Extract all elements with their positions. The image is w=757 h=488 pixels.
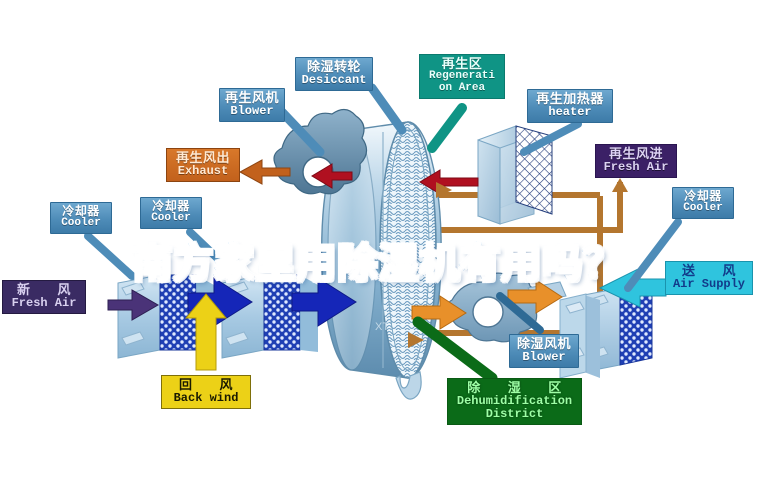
- label-regeneration-heater: 再生加热器 heater: [527, 89, 613, 123]
- label-regeneration-blower-en: Blower: [225, 105, 279, 118]
- label-desiccant-wheel-en: Desiccant: [301, 74, 367, 87]
- label-regeneration-heater-cn: 再生加热器: [533, 92, 607, 106]
- label-back-wind-cn: 回 风: [167, 378, 245, 392]
- label-dehumidification-blower-en: Blower: [515, 351, 573, 364]
- label-regeneration-area-cn: 再生区: [425, 57, 499, 71]
- label-regeneration-fresh-air: 再生风进 Fresh Air: [595, 144, 677, 178]
- page-title-text: 南方家里用除湿机有用吗？: [133, 241, 625, 287]
- label-cooler-left-2: 冷却器 Cooler: [140, 197, 202, 229]
- label-regeneration-area: 再生区 Regenerati on Area: [419, 54, 505, 99]
- label-dehumidification-district-en2: District: [453, 408, 576, 421]
- label-cooler-right-en: Cooler: [678, 203, 728, 215]
- label-regeneration-fresh-air-cn: 再生风进: [601, 147, 671, 161]
- label-cooler-left-1: 冷却器 Cooler: [50, 202, 112, 234]
- label-cooler-left-2-cn: 冷却器: [146, 200, 196, 213]
- label-regeneration-heater-en: heater: [533, 106, 607, 119]
- label-desiccant-wheel-cn: 除湿转轮: [301, 60, 367, 74]
- label-back-wind-en: Back wind: [167, 392, 245, 405]
- label-cooler-right-cn: 冷却器: [678, 190, 728, 203]
- label-dehumidification-district: 除 湿 区 Dehumidification District: [447, 378, 582, 425]
- label-cooler-left-2-en: Cooler: [146, 213, 196, 225]
- label-exhaust-cn: 再生风出: [172, 151, 234, 165]
- label-dehumidification-district-cn: 除 湿 区: [453, 381, 576, 395]
- label-dehumidification-blower: 除湿风机 Blower: [509, 334, 579, 368]
- page-title: 南方家里用除湿机有用吗？: [0, 231, 757, 289]
- label-dehumidification-blower-cn: 除湿风机: [515, 337, 573, 351]
- label-back-wind: 回 风 Back wind: [161, 375, 251, 409]
- label-cooler-left-1-en: Cooler: [56, 218, 106, 230]
- diagram-canvas: XT: [0, 0, 757, 488]
- label-cooler-right: 冷却器 Cooler: [672, 187, 734, 219]
- label-regeneration-area-en2: on Area: [425, 83, 499, 95]
- label-regeneration-blower-cn: 再生风机: [225, 91, 279, 105]
- label-regeneration-fresh-air-en: Fresh Air: [601, 161, 671, 174]
- label-fresh-air-inlet-en: Fresh Air: [8, 297, 80, 310]
- label-regeneration-blower: 再生风机 Blower: [219, 88, 285, 122]
- label-exhaust: 再生风出 Exhaust: [166, 148, 240, 182]
- label-exhaust-en: Exhaust: [172, 165, 234, 178]
- label-cooler-left-1-cn: 冷却器: [56, 205, 106, 218]
- label-desiccant-wheel: 除湿转轮 Desiccant: [295, 57, 373, 91]
